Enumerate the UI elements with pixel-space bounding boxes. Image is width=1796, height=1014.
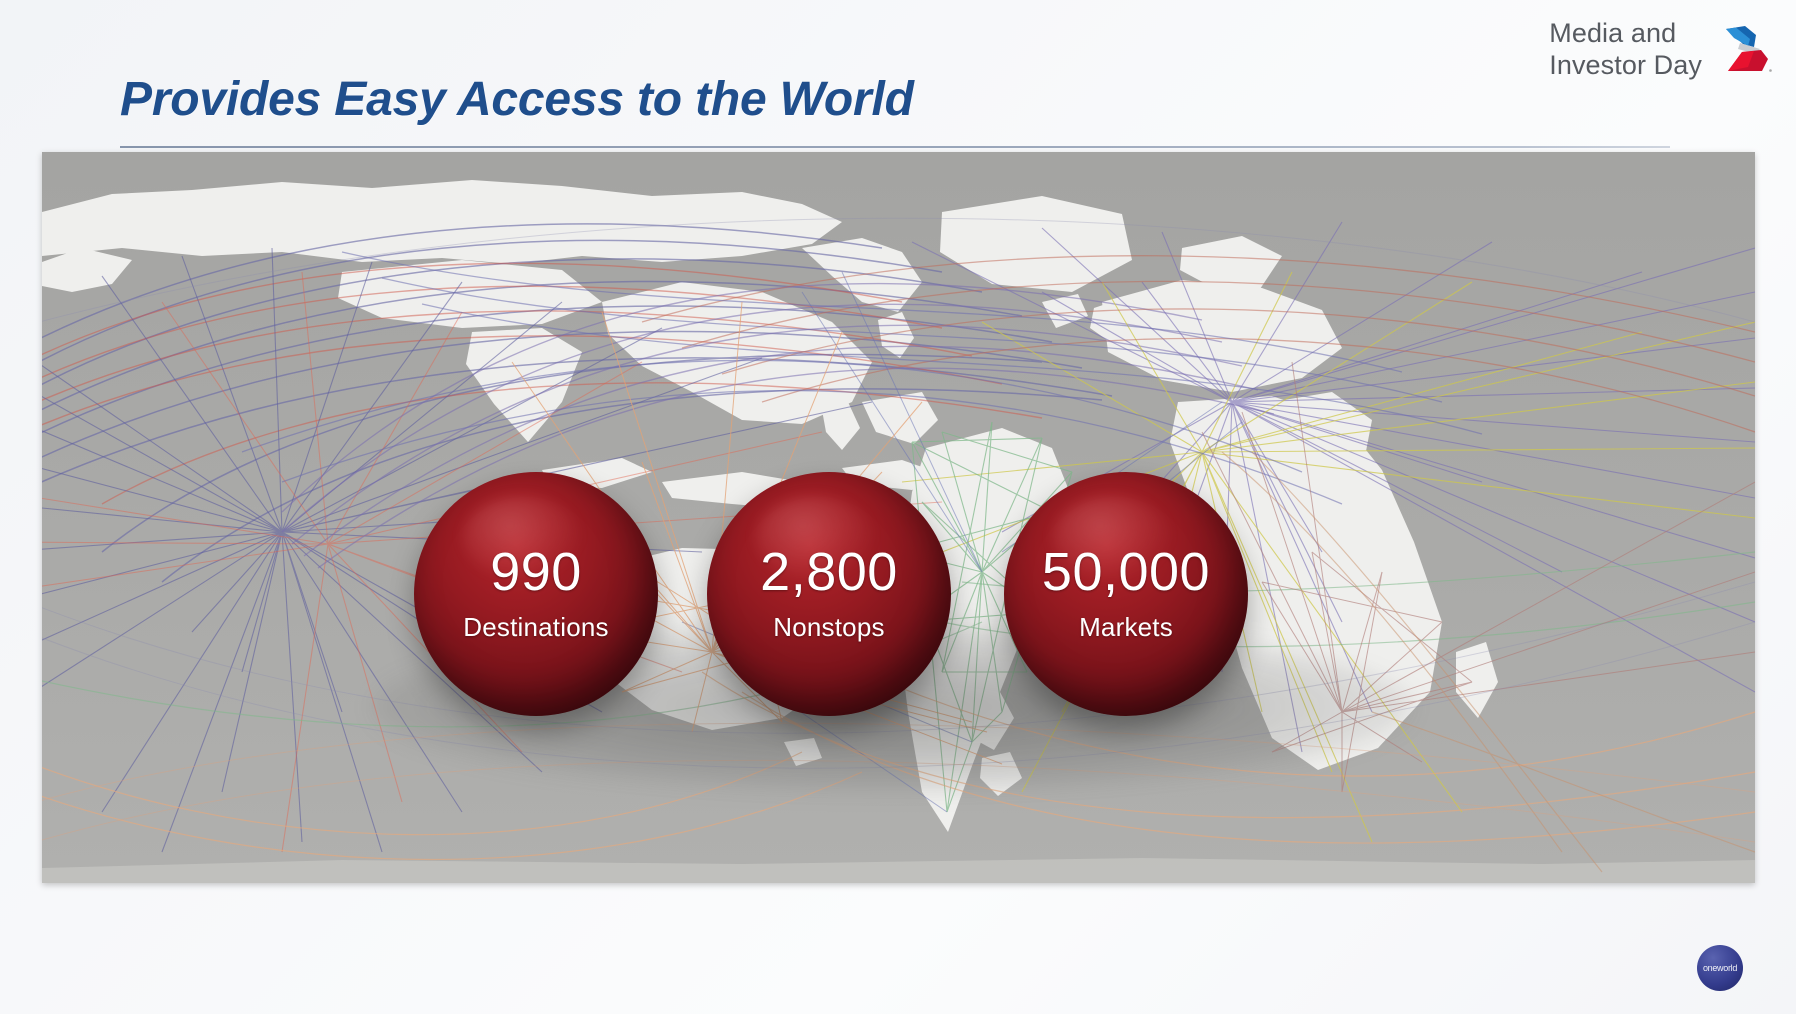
stat-label: Markets [1079,612,1173,643]
page-title: Provides Easy Access to the World [120,72,914,127]
brand-line-1: Media and [1549,18,1702,50]
stat-sphere-markets[interactable]: 50,000 Markets [1004,472,1248,716]
stat-value: 990 [490,545,582,599]
stat-value: 50,000 [1042,545,1210,599]
stat-label: Destinations [463,612,608,643]
oneworld-logo-text: oneworld [1703,963,1737,973]
oneworld-alliance-icon: oneworld [1697,945,1743,991]
stat-sphere-nonstops[interactable]: 2,800 Nonstops [707,472,951,716]
slide: Media and Investor Day Provides Easy Acc… [0,0,1796,1014]
american-airlines-flight-symbol-icon [1712,21,1774,79]
stat-sphere-destinations[interactable]: 990 Destinations [414,472,658,716]
stat-value: 2,800 [760,545,898,599]
stat-label: Nonstops [773,612,884,643]
title-divider [120,146,1670,148]
brand-title: Media and Investor Day [1549,18,1702,82]
brand-line-2: Investor Day [1549,50,1702,82]
world-route-map: 990 Destinations 2,800 Nonstops 50,000 M… [42,152,1755,883]
brand-logo: Media and Investor Day [1549,18,1774,82]
